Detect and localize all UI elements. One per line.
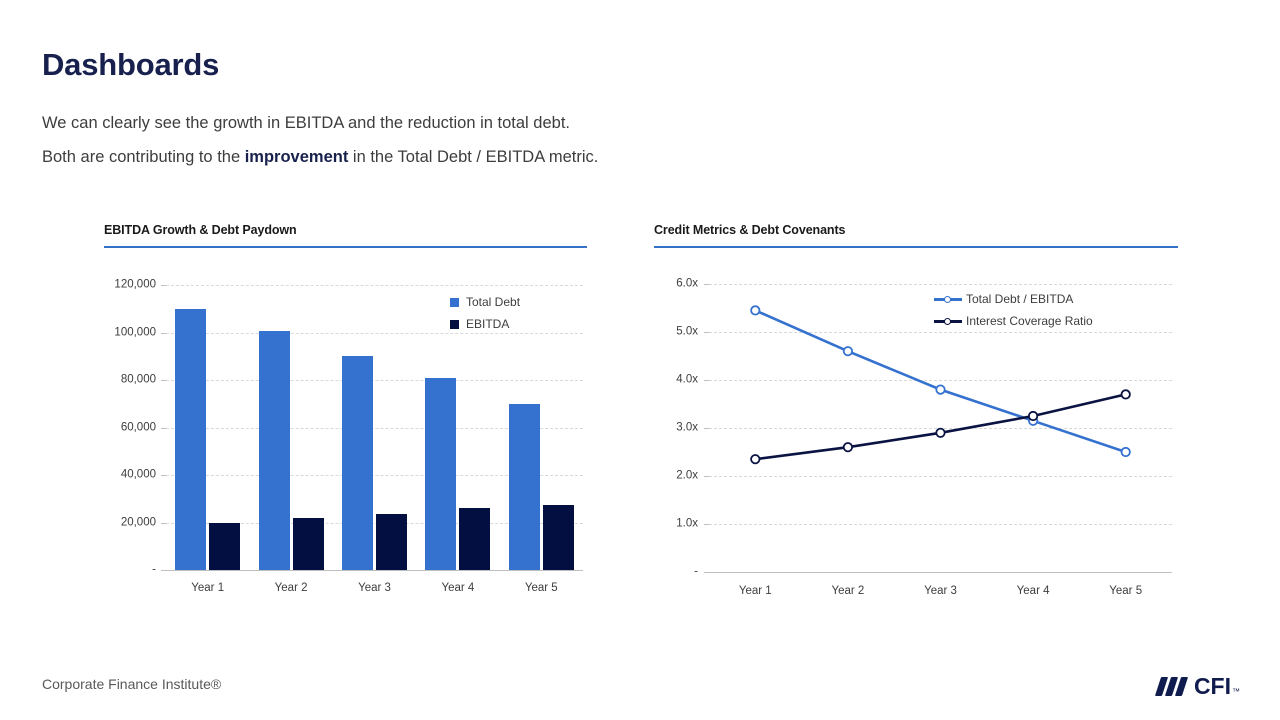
bar-chart-legend: Total DebtEBITDA <box>450 291 520 335</box>
cfi-logo-bars-icon <box>1158 677 1188 696</box>
bar-chart-x-axis-label: Year 4 <box>413 583 503 595</box>
bar-chart-y-axis-label: 100,000 <box>104 327 156 339</box>
legend-swatch-icon <box>450 298 459 307</box>
line-chart: 6.0x5.0x4.0x3.0x2.0x1.0x-Year 1Year 2Yea… <box>654 270 1178 620</box>
line-data-point <box>936 429 944 437</box>
intro-line-1: We can clearly see the growth in EBITDA … <box>42 114 570 133</box>
panel-right-divider <box>654 246 1178 248</box>
line-chart-x-axis-label: Year 3 <box>896 586 986 598</box>
bar-chart-gridline <box>166 285 583 286</box>
bar-chart-y-axis-label: 20,000 <box>104 517 156 529</box>
legend-line-marker-icon <box>934 294 962 304</box>
legend-label: Total Debt / EBITDA <box>966 292 1073 306</box>
line-chart-x-axis-label: Year 4 <box>988 586 1078 598</box>
bar-ebitda <box>293 518 324 570</box>
bar-chart-y-axis-label: - <box>104 564 156 576</box>
legend-item[interactable]: Interest Coverage Ratio <box>934 310 1093 332</box>
bar-chart-y-tickmark <box>161 570 166 571</box>
legend-item[interactable]: Total Debt / EBITDA <box>934 288 1093 310</box>
bar-chart-y-axis-label: 120,000 <box>104 279 156 291</box>
bar-ebitda <box>376 514 407 570</box>
bar-total-debt <box>509 404 540 570</box>
legend-swatch-icon <box>450 320 459 329</box>
bar-chart-x-axis <box>166 570 583 571</box>
bar-ebitda <box>459 508 490 570</box>
line-data-point <box>844 347 852 355</box>
bar-chart-y-axis-label: 80,000 <box>104 374 156 386</box>
line-data-point <box>751 455 759 463</box>
intro-line-2: Both are contributing to the improvement… <box>42 148 598 167</box>
legend-line-marker-icon <box>934 316 962 326</box>
line-chart-series-svg <box>654 270 1178 620</box>
legend-label: Total Debt <box>466 295 520 309</box>
line-data-point <box>844 443 852 451</box>
bar-chart-gridline <box>166 380 583 381</box>
legend-item[interactable]: EBITDA <box>450 313 520 335</box>
bar-chart-x-axis-label: Year 1 <box>163 583 253 595</box>
line-chart-legend: Total Debt / EBITDAInterest Coverage Rat… <box>934 288 1093 332</box>
bar-total-debt <box>342 356 373 570</box>
panel-left-title: EBITDA Growth & Debt Paydown <box>104 223 587 237</box>
bar-chart-y-axis-label: 60,000 <box>104 422 156 434</box>
bar-ebitda <box>209 523 240 571</box>
intro-line-2-suffix: in the Total Debt / EBITDA metric. <box>348 148 598 166</box>
page-title: Dashboards <box>42 47 219 83</box>
line-data-point <box>936 385 944 393</box>
bar-chart-y-tickmark <box>161 475 166 476</box>
bar-chart-gridline <box>166 333 583 334</box>
legend-label: Interest Coverage Ratio <box>966 314 1093 328</box>
line-data-point <box>1122 390 1130 398</box>
line-data-point <box>1029 412 1037 420</box>
bar-total-debt <box>259 331 290 570</box>
line-chart-x-axis-label: Year 5 <box>1081 586 1171 598</box>
legend-label: EBITDA <box>466 317 509 331</box>
bar-chart-x-axis-label: Year 2 <box>246 583 336 595</box>
panel-left-divider <box>104 246 587 248</box>
panel-credit-metrics-debt-covenants: Credit Metrics & Debt Covenants <box>654 223 1178 248</box>
panel-right-title: Credit Metrics & Debt Covenants <box>654 223 1178 237</box>
bar-chart-x-axis-label: Year 3 <box>330 583 420 595</box>
bar-chart-y-axis-label: 40,000 <box>104 469 156 481</box>
intro-line-2-prefix: Both are contributing to the <box>42 148 245 166</box>
line-data-point <box>1122 448 1130 456</box>
line-chart-x-axis-label: Year 2 <box>803 586 893 598</box>
footer-credit: Corporate Finance Institute® <box>42 676 221 692</box>
bar-chart-x-axis-label: Year 5 <box>496 583 586 595</box>
cfi-logo-trademark: ™ <box>1232 687 1240 696</box>
bar-chart: 120,000100,00080,00060,00040,00020,000-Y… <box>104 270 587 615</box>
line-series-interest-coverage-ratio <box>755 394 1125 459</box>
cfi-logo: CFI ™ <box>1158 673 1240 699</box>
bar-total-debt <box>175 309 206 570</box>
panel-ebitda-growth-debt-paydown: EBITDA Growth & Debt Paydown <box>104 223 587 248</box>
bar-chart-y-tickmark <box>161 523 166 524</box>
bar-ebitda <box>543 505 574 570</box>
line-data-point <box>751 306 759 314</box>
bar-total-debt <box>425 378 456 570</box>
bar-chart-y-tickmark <box>161 285 166 286</box>
bar-chart-y-tickmark <box>161 333 166 334</box>
bar-chart-y-tickmark <box>161 380 166 381</box>
slide-canvas: Dashboards We can clearly see the growth… <box>0 0 1280 720</box>
bar-chart-y-tickmark <box>161 428 166 429</box>
intro-line-2-emphasis: improvement <box>245 148 349 166</box>
line-chart-x-axis-label: Year 1 <box>710 586 800 598</box>
cfi-logo-wordmark: CFI <box>1194 673 1231 700</box>
legend-item[interactable]: Total Debt <box>450 291 520 313</box>
